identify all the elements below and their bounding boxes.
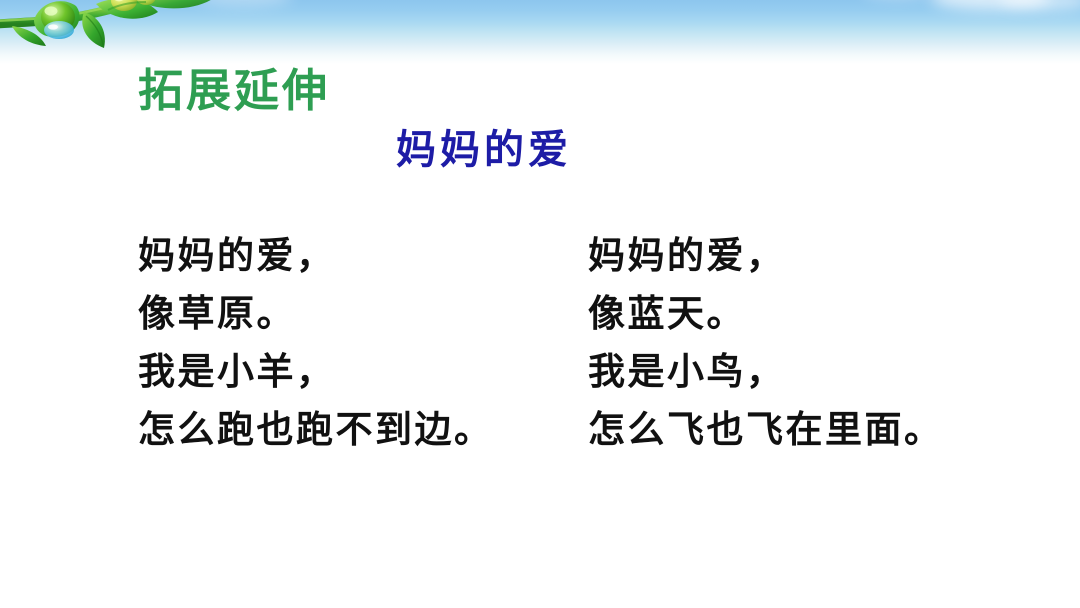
cloud-wisp-icon xyxy=(930,0,1050,10)
section-heading: 拓展延伸 xyxy=(138,66,330,116)
vine-leaf-icon xyxy=(0,0,240,52)
poem-body: 妈妈的爱， 像草原。 我是小羊， 怎么跑也跑不到边。 妈妈的爱， 像蓝天。 我是… xyxy=(0,228,1080,488)
poem-title: 妈妈的爱 xyxy=(396,128,572,173)
poem-line: 像蓝天。 xyxy=(588,286,944,344)
poem-line: 怎么跑也跑不到边。 xyxy=(138,402,494,460)
cloud-wisp-icon xyxy=(1000,0,1080,10)
poem-line: 妈妈的爱， xyxy=(138,228,494,286)
poem-line: 我是小羊， xyxy=(138,344,494,402)
poem-line: 像草原。 xyxy=(138,286,494,344)
poem-line: 妈妈的爱， xyxy=(588,228,944,286)
slide-canvas: 拓展延伸 妈妈的爱 妈妈的爱， 像草原。 我是小羊， 怎么跑也跑不到边。 妈妈的… xyxy=(0,0,1080,608)
poem-column-right: 妈妈的爱， 像蓝天。 我是小鸟， 怎么飞也飞在里面。 xyxy=(588,228,944,460)
poem-line: 我是小鸟， xyxy=(588,344,944,402)
poem-column-left: 妈妈的爱， 像草原。 我是小羊， 怎么跑也跑不到边。 xyxy=(138,228,494,460)
poem-line: 怎么飞也飞在里面。 xyxy=(588,402,944,460)
